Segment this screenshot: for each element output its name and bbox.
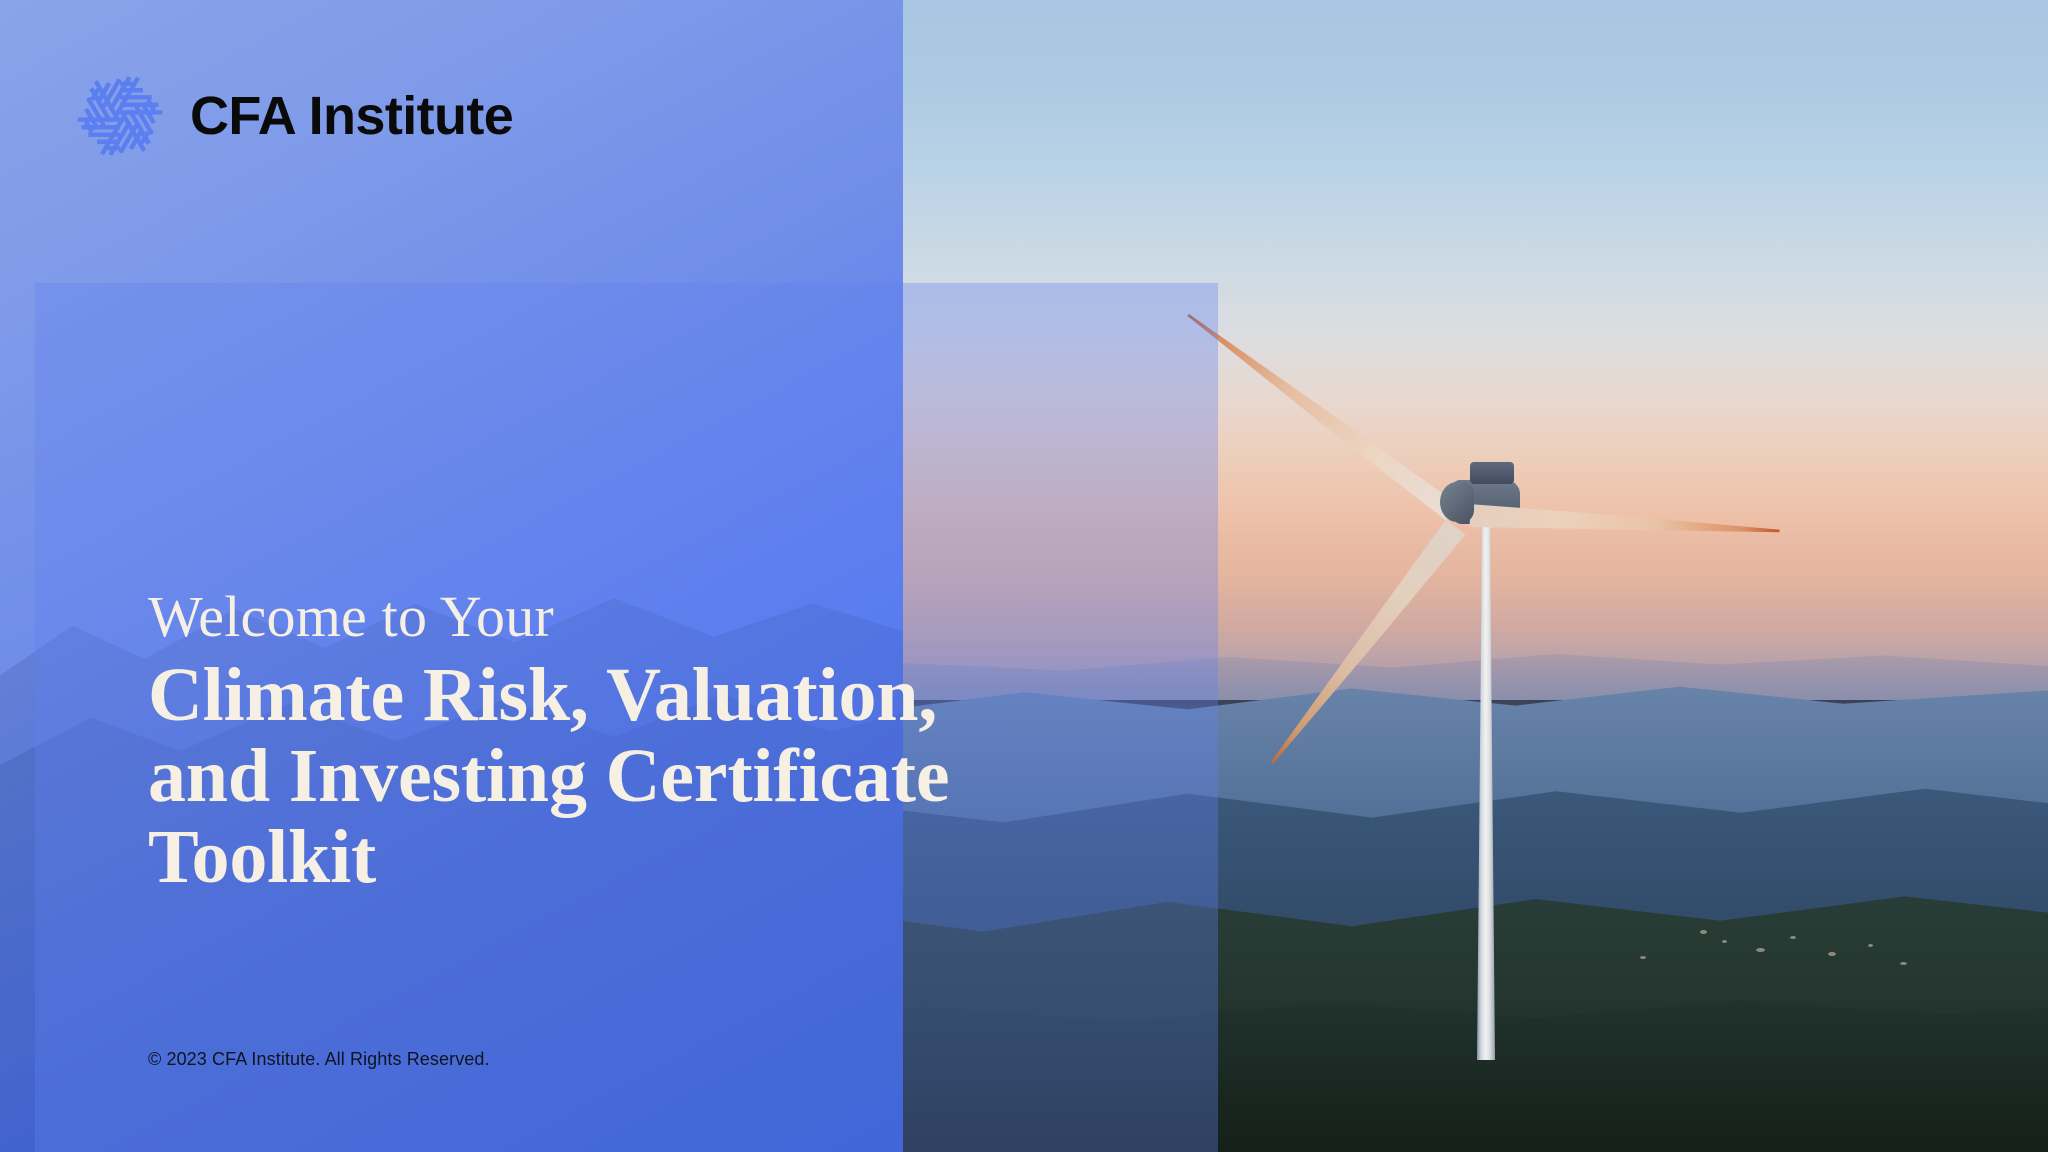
hero-title-line-3: Toolkit bbox=[148, 817, 1148, 898]
brand-wordmark: CFA Institute bbox=[190, 89, 513, 143]
cfa-pinwheel-icon bbox=[72, 68, 168, 164]
hero-title: Climate Risk, Valuation, and Investing C… bbox=[148, 655, 1148, 899]
turbine-blade-lower bbox=[1259, 518, 1467, 773]
turbine-mast bbox=[1477, 500, 1495, 1060]
copyright-notice: © 2023 CFA Institute. All Rights Reserve… bbox=[148, 1049, 490, 1070]
hero-title-line-2: and Investing Certificate bbox=[148, 736, 1148, 817]
turbine-blade-right bbox=[1469, 502, 1780, 544]
turbine-nacelle-top bbox=[1470, 462, 1514, 484]
turbine-hub bbox=[1440, 482, 1474, 522]
turbine-blade-upper bbox=[1179, 302, 1461, 525]
hero-title-line-1: Climate Risk, Valuation, bbox=[148, 655, 1148, 736]
brand-logo[interactable]: CFA Institute bbox=[72, 68, 513, 164]
title-slide: CFA Institute Welcome to Your Climate Ri… bbox=[0, 0, 2048, 1152]
hero-eyebrow: Welcome to Your bbox=[148, 586, 1148, 649]
hero-headline: Welcome to Your Climate Risk, Valuation,… bbox=[148, 586, 1148, 899]
